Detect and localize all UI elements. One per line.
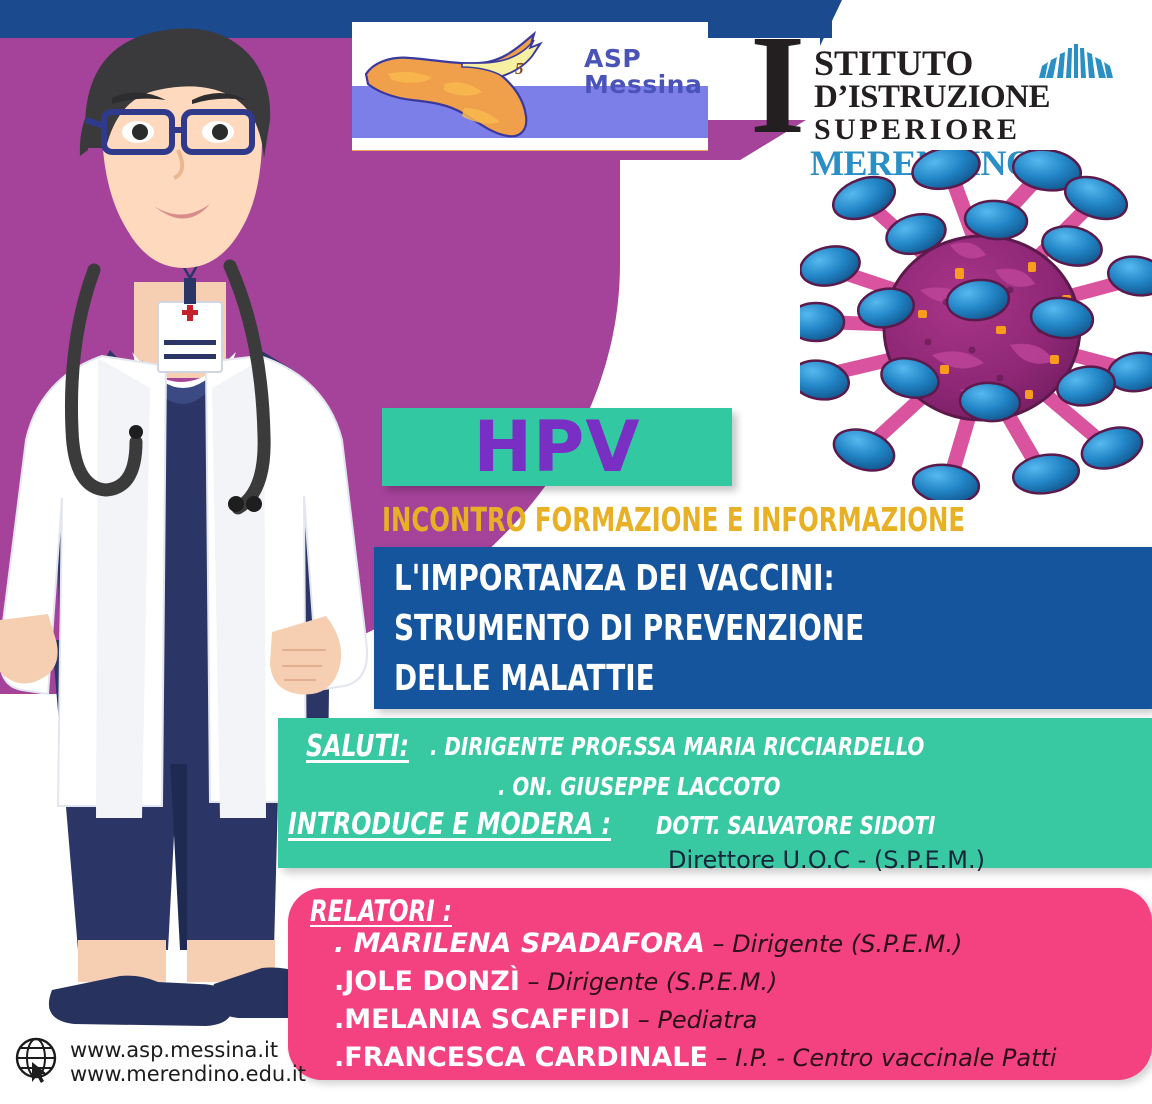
footer: www.asp.messina.it www.merendino.edu.it <box>14 1034 414 1096</box>
speakers-label: RELATORI : <box>310 894 452 928</box>
hpv-title-box: HPV <box>382 408 732 486</box>
speaker-dash: – <box>705 930 732 958</box>
greetings-label: SALUTI: <box>306 729 409 764</box>
greetings-block: SALUTI: . DIRIGENTE PROF.SSA MARIA RICCI… <box>278 718 1152 868</box>
speaker-bullet: . <box>334 1004 344 1035</box>
speaker-role: I.P. - Centro vaccinale Patti <box>735 1044 1056 1072</box>
iis-line-istruzione: D’ISTRUZIONE <box>814 79 1050 116</box>
asp-map-marker: 5 <box>515 59 524 79</box>
speaker-name: MELANIA SCAFFIDI <box>344 1004 630 1035</box>
open-book-icon <box>1038 38 1114 82</box>
iis-line-istituto: STITUTO <box>814 42 973 84</box>
footer-url-asp[interactable]: www.asp.messina.it <box>70 1038 306 1062</box>
moderator-label: INTRODUCE E MODERA : <box>288 807 611 842</box>
speaker-bullet: . <box>334 928 354 959</box>
headline-line-2: STRUMENTO DI PREVENZIONE <box>394 608 864 649</box>
speaker-bullet: . <box>334 966 344 997</box>
asp-logo-text: ASP Messina <box>584 46 702 98</box>
speaker-row: .FRANCESCA CARDINALE – I.P. - Centro vac… <box>334 1042 1057 1073</box>
headline-line-1: L'IMPORTANZA DEI VACCINI: <box>394 558 835 599</box>
hpv-virus-illustration <box>800 150 1152 500</box>
hpv-event-poster: 5 ASP Messina I STITUTO D’ISTRUZIONE SUP… <box>0 0 1152 1104</box>
speaker-role: Pediatra <box>657 1006 757 1034</box>
speaker-dash: – <box>708 1044 735 1072</box>
speaker-role: Dirigente (S.P.E.M.) <box>732 930 962 958</box>
speaker-name: MARILENA SPADAFORA <box>354 928 705 959</box>
asp-logo-line2: Messina <box>584 72 702 98</box>
speaker-role: Dirigente (S.P.E.M.) <box>547 968 777 996</box>
speakers-block: RELATORI : . MARILENA SPADAFORA – Dirige… <box>288 888 1152 1080</box>
speaker-row: . MARILENA SPADAFORA – Dirigente (S.P.E.… <box>334 928 962 959</box>
iis-merendino-logo: I STITUTO D’ISTRUZIONE SUPERIORE MERENDI… <box>748 16 1148 164</box>
speaker-name: JOLE DONZÌ <box>344 966 520 997</box>
speaker-row: .JOLE DONZÌ – Dirigente (S.P.E.M.) <box>334 966 777 997</box>
footer-url-merendino[interactable]: www.merendino.edu.it <box>70 1062 306 1086</box>
event-subtitle: INCONTRO FORMAZIONE E INFORMAZIONE <box>382 500 1005 538</box>
speaker-row: .MELANIA SCAFFIDI – Pediatra <box>334 1004 757 1035</box>
globe-cursor-icon <box>14 1036 62 1084</box>
moderator-name: DOTT. SALVATORE SIDOTI <box>656 811 935 840</box>
asp-messina-logo: 5 ASP Messina <box>352 22 708 150</box>
greeting-item-2: . ON. GIUSEPPE LACCOTO <box>498 772 781 801</box>
headline-line-3: DELLE MALATTIE <box>394 658 655 699</box>
headline-block: L'IMPORTANZA DEI VACCINI: STRUMENTO DI P… <box>374 547 1152 709</box>
footer-urls: www.asp.messina.it www.merendino.edu.it <box>70 1038 306 1086</box>
iis-drop-cap: I <box>750 22 805 146</box>
moderator-role: Direttore U.O.C - (S.P.E.M.) <box>668 846 985 874</box>
greeting-item-1: . DIRIGENTE PROF.SSA MARIA RICCIARDELLO <box>430 732 924 761</box>
hpv-acronym: HPV <box>382 408 732 486</box>
asp-logo-line1: ASP <box>584 46 702 72</box>
speaker-dash: – <box>520 968 547 996</box>
speaker-dash: – <box>630 1006 657 1034</box>
